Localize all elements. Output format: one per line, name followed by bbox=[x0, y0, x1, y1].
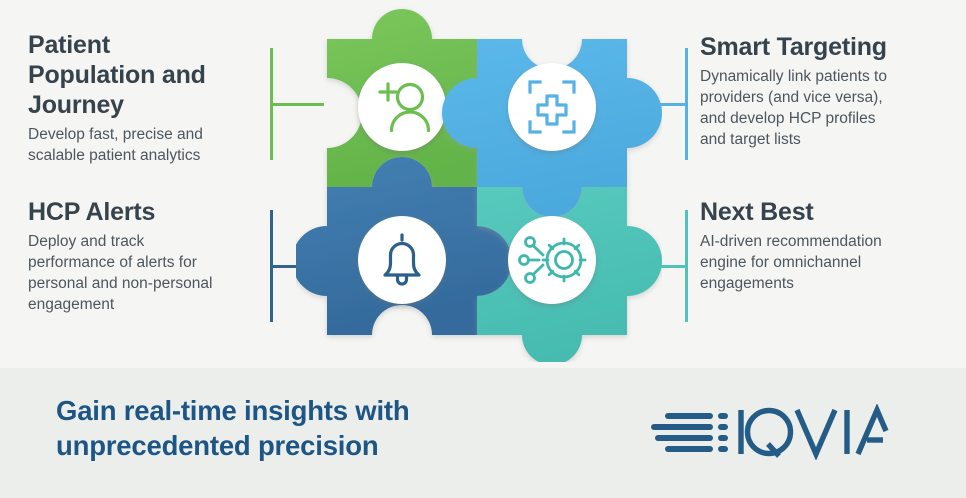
body-line: and target lists bbox=[700, 129, 950, 150]
body-line: engagement bbox=[28, 294, 253, 315]
quadrant-text-hcp-alerts: HCP Alerts Deploy and track performance … bbox=[28, 197, 253, 315]
body-line: performance of alerts for bbox=[28, 252, 253, 273]
body-line: Dynamically link patients to bbox=[700, 66, 950, 87]
tagline-line-2: unprecedented precision bbox=[56, 428, 526, 463]
body-line: engagements bbox=[700, 273, 952, 294]
puzzle-graphic bbox=[296, 6, 662, 362]
quadrant-text-next-best: Next Best AI-driven recommendation engin… bbox=[700, 197, 952, 294]
quadrant-title-patient-population-journey: Patient Population and Journey bbox=[28, 30, 258, 120]
title-line: HCP Alerts bbox=[28, 197, 253, 227]
body-line: scalable patient analytics bbox=[28, 145, 258, 166]
body-line: AI-driven recommendation bbox=[700, 231, 952, 252]
quadrant-text-patient-population-journey: Patient Population and Journey Develop f… bbox=[28, 30, 258, 166]
icon-badge-circle bbox=[358, 216, 446, 304]
icon-badge-circle bbox=[508, 63, 596, 151]
quadrant-body-patient-population-journey: Develop fast, precise and scalable patie… bbox=[28, 124, 258, 166]
body-line: and develop HCP profiles bbox=[700, 108, 950, 129]
body-line: Develop fast, precise and bbox=[28, 124, 258, 145]
body-line: providers (and vice versa), bbox=[700, 87, 950, 108]
title-line: Journey bbox=[28, 90, 258, 120]
title-line: Smart Targeting bbox=[700, 32, 950, 62]
iqvia-wordmark bbox=[741, 410, 886, 456]
quadrant-title-smart-targeting: Smart Targeting bbox=[700, 32, 950, 62]
tagline-line-1: Gain real-time insights with bbox=[56, 393, 526, 428]
body-line: engine for omnichannel bbox=[700, 252, 952, 273]
iqvia-logo[interactable] bbox=[645, 404, 890, 460]
body-line: personal and non-personal bbox=[28, 273, 253, 294]
infographic-root: Patient Population and Journey Develop f… bbox=[0, 0, 966, 498]
quadrant-title-next-best: Next Best bbox=[700, 197, 952, 227]
title-line: Patient bbox=[28, 30, 258, 60]
quadrant-body-next-best: AI-driven recommendation engine for omni… bbox=[700, 231, 952, 294]
body-line: Deploy and track bbox=[28, 231, 253, 252]
quadrant-title-hcp-alerts: HCP Alerts bbox=[28, 197, 253, 227]
quadrant-body-smart-targeting: Dynamically link patients to providers (… bbox=[700, 66, 950, 150]
tagline: Gain real-time insights with unprecedent… bbox=[56, 393, 526, 463]
quadrant-body-hcp-alerts: Deploy and track performance of alerts f… bbox=[28, 231, 253, 315]
quadrant-text-smart-targeting: Smart Targeting Dynamically link patient… bbox=[700, 32, 950, 150]
title-line: Population and bbox=[28, 60, 258, 90]
iqvia-bars-mark bbox=[651, 413, 728, 452]
title-line: Next Best bbox=[700, 197, 952, 227]
